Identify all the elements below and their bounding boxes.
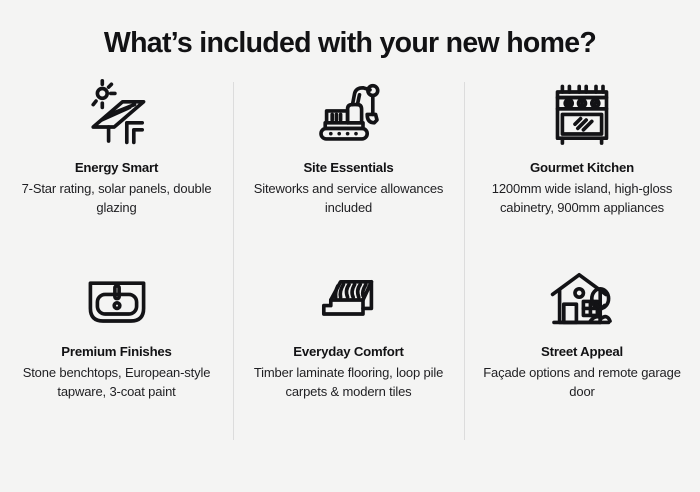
solar-panel-icon [82, 74, 152, 152]
feature-card-gourmet-kitchen: Gourmet Kitchen 1200mm wide island, high… [464, 74, 700, 264]
feature-description: 7-Star rating, solar panels, double glaz… [18, 179, 215, 217]
oven-icon [547, 74, 617, 152]
feature-description: Stone benchtops, European-style tapware,… [18, 363, 215, 401]
feature-card-premium-finishes: Premium Finishes Stone benchtops, Europe… [0, 264, 233, 439]
feature-card-site-essentials: Site Essentials Siteworks and service al… [233, 74, 464, 264]
feature-grid: Energy Smart 7-Star rating, solar panels… [0, 74, 700, 492]
feature-title: Energy Smart [75, 159, 158, 176]
feature-card-everyday-comfort: Everyday Comfort Timber laminate floorin… [233, 264, 464, 439]
feature-description: Timber laminate flooring, loop pile carp… [251, 363, 446, 401]
excavator-icon [314, 74, 384, 152]
page-title: What’s included with your new home? [104, 27, 596, 60]
feature-title: Site Essentials [303, 159, 393, 176]
feature-title: Premium Finishes [61, 343, 171, 360]
feature-description: Façade options and remote garage door [482, 363, 682, 401]
feature-description: Siteworks and service allowances include… [251, 179, 446, 217]
feature-title: Street Appeal [541, 343, 623, 360]
feature-title: Gourmet Kitchen [530, 159, 634, 176]
timber-flooring-icon [314, 264, 384, 336]
feature-description: 1200mm wide island, high-gloss cabinetry… [482, 179, 682, 217]
feature-grid-page: What’s included with your new home? [0, 0, 700, 492]
feature-grid-wrapper: Energy Smart 7-Star rating, solar panels… [0, 74, 700, 492]
feature-title: Everyday Comfort [293, 343, 403, 360]
house-tree-icon [547, 264, 617, 336]
basin-icon [82, 264, 152, 336]
feature-card-street-appeal: Street Appeal Façade options and remote … [464, 264, 700, 439]
feature-card-energy-smart: Energy Smart 7-Star rating, solar panels… [0, 74, 233, 264]
